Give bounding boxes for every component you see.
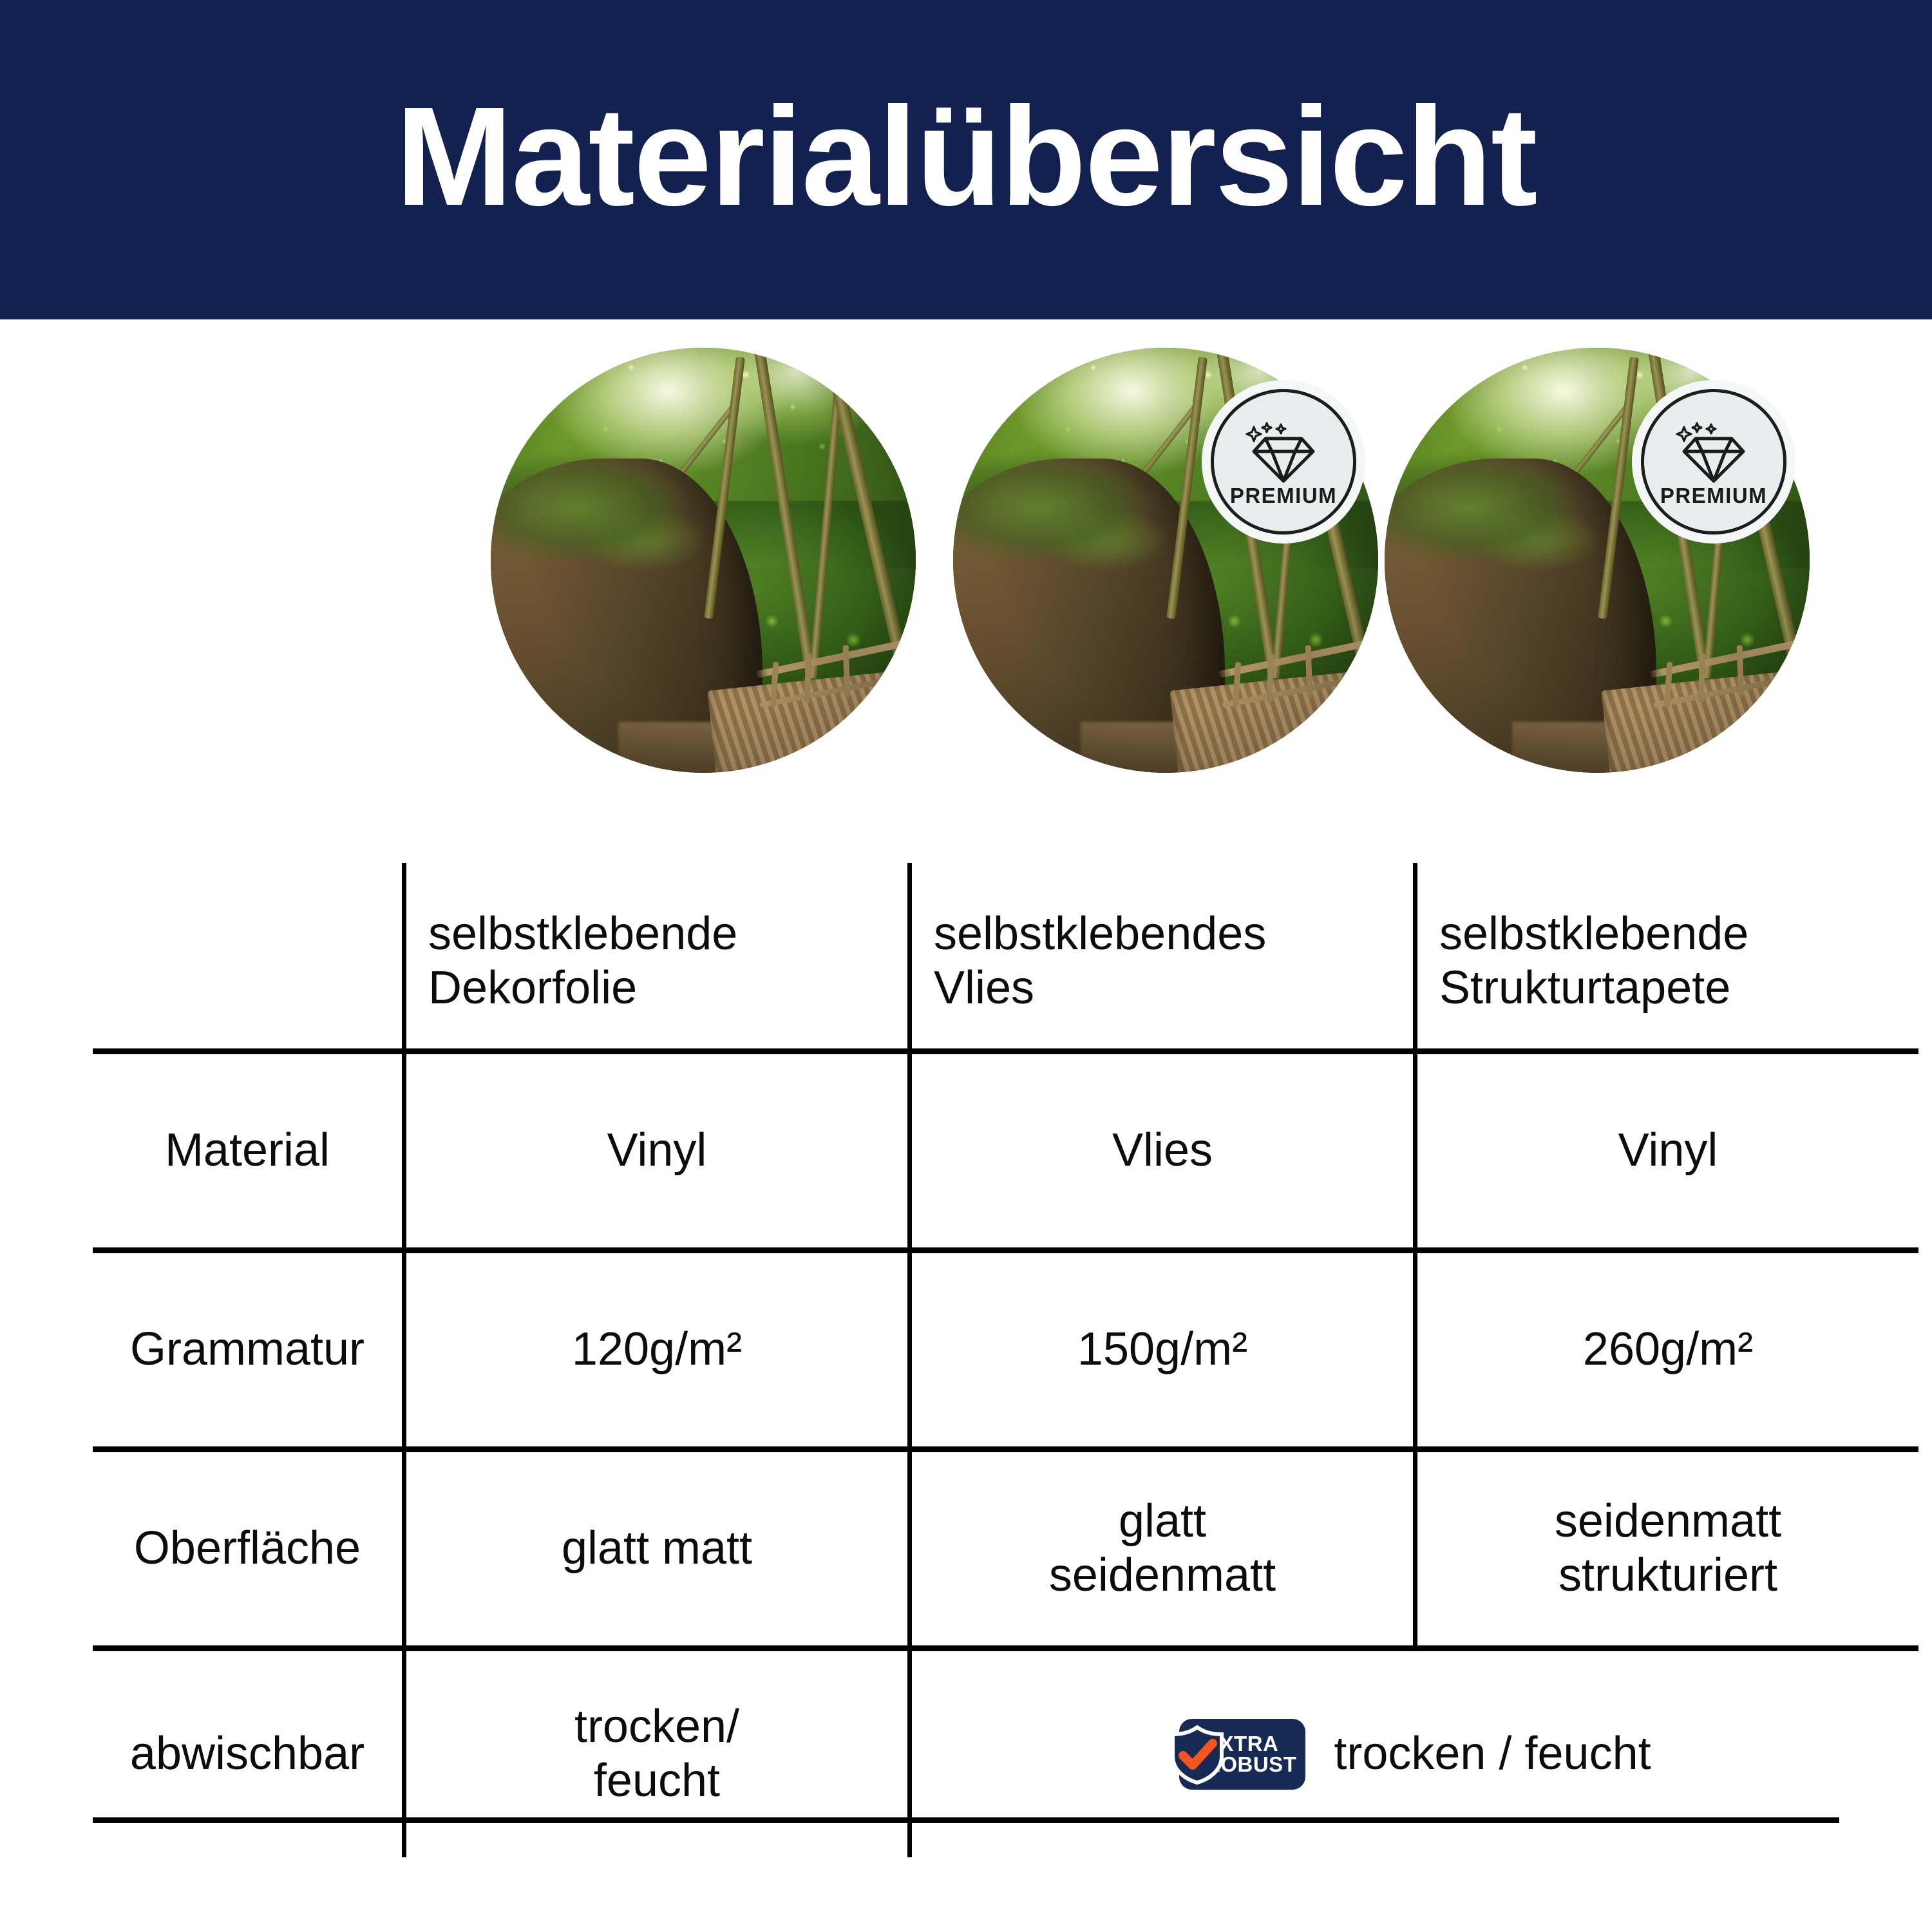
cell-abwischbar-text: trocken / feucht — [1334, 1727, 1651, 1781]
header-cell-empty — [93, 863, 404, 1052]
row-label-material: Material — [93, 1052, 404, 1251]
extra-robust-badge: EXTRA ROBUST — [1179, 1719, 1305, 1790]
premium-badge-label: PREMIUM — [1230, 485, 1337, 506]
header-band: Materialübersicht — [0, 0, 1932, 319]
product-image-row — [0, 348, 1932, 799]
row-label-grammatur: Grammatur — [93, 1251, 404, 1450]
header-cell-dekorfolie: selbstklebende Dekorfolie — [404, 863, 910, 1052]
cell-abwischbar-merged: EXTRA ROBUST trocken / feucht — [910, 1649, 1919, 1858]
cell-material-vlies: Vlies — [910, 1052, 1416, 1251]
cell-material-dekorfolie: Vinyl — [404, 1052, 910, 1251]
cell-grammatur-dekorfolie: 120g/m² — [404, 1251, 910, 1450]
diamond-icon — [1675, 422, 1752, 484]
table-row-abwischbar: abwischbar trocken/ feucht EXTRA ROBUST — [93, 1649, 1918, 1858]
table-bottom-rule — [93, 1817, 1839, 1823]
table-row-grammatur: Grammatur 120g/m² 150g/m² 260g/m² — [93, 1251, 1918, 1450]
cell-oberflaeche-dekorfolie: glatt matt — [404, 1450, 910, 1649]
table-header-row: selbstklebende Dekorfolie selbstklebende… — [93, 863, 1918, 1052]
cell-oberflaeche-strukturtapete: seidenmatt strukturiert — [1416, 1450, 1919, 1649]
premium-badge-label: PREMIUM — [1660, 485, 1767, 506]
header-cell-vlies: selbstklebendes Vlies — [910, 863, 1416, 1052]
premium-badge-strukturtapete: PREMIUM — [1641, 389, 1786, 535]
table-row-oberflaeche: Oberfläche glatt matt glatt seidenmatt s… — [93, 1450, 1918, 1649]
row-label-oberflaeche: Oberfläche — [93, 1450, 404, 1649]
table-row-material: Material Vinyl Vlies Vinyl — [93, 1052, 1918, 1251]
row-label-abwischbar: abwischbar — [93, 1649, 404, 1858]
product-thumbnail-dekorfolie[interactable] — [491, 348, 916, 773]
cell-grammatur-strukturtapete: 260g/m² — [1416, 1251, 1919, 1450]
cell-grammatur-vlies: 150g/m² — [910, 1251, 1416, 1450]
material-spec-table: selbstklebende Dekorfolie selbstklebende… — [93, 863, 1918, 1857]
cell-oberflaeche-vlies: glatt seidenmatt — [910, 1450, 1416, 1649]
header-cell-strukturtapete: selbstklebende Strukturtapete — [1416, 863, 1919, 1052]
premium-badge-vlies: PREMIUM — [1211, 389, 1356, 535]
shield-check-icon — [1168, 1725, 1227, 1785]
cell-material-strukturtapete: Vinyl — [1416, 1052, 1919, 1251]
page-title: Materialübersicht — [395, 87, 1536, 227]
cell-abwischbar-dekorfolie: trocken/ feucht — [404, 1649, 910, 1858]
circle-image-1 — [491, 348, 916, 773]
diamond-icon — [1245, 422, 1322, 484]
